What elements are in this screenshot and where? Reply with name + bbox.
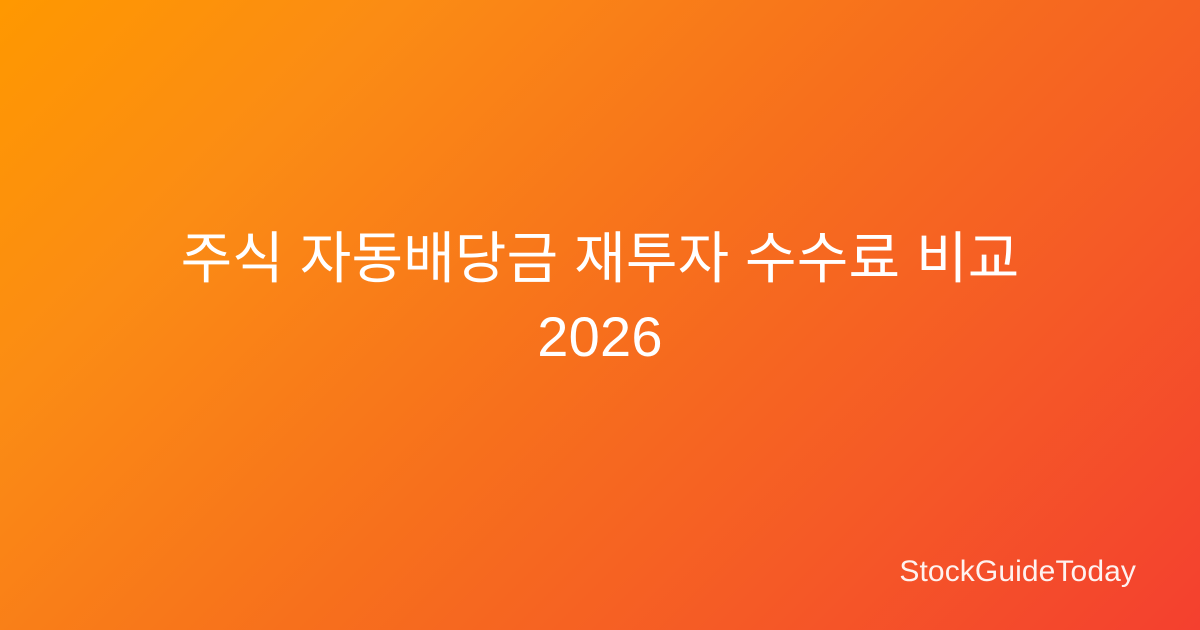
site-watermark: StockGuideToday	[899, 557, 1136, 587]
page-title-line-1: 주식 자동배당금 재투자 수수료 비교	[181, 220, 1020, 298]
page-title-line-2-year: 2026	[537, 298, 662, 376]
social-share-card: 주식 자동배당금 재투자 수수료 비교 2026 StockGuideToday	[0, 0, 1200, 630]
headline-block: 주식 자동배당금 재투자 수수료 비교 2026	[0, 0, 1200, 630]
